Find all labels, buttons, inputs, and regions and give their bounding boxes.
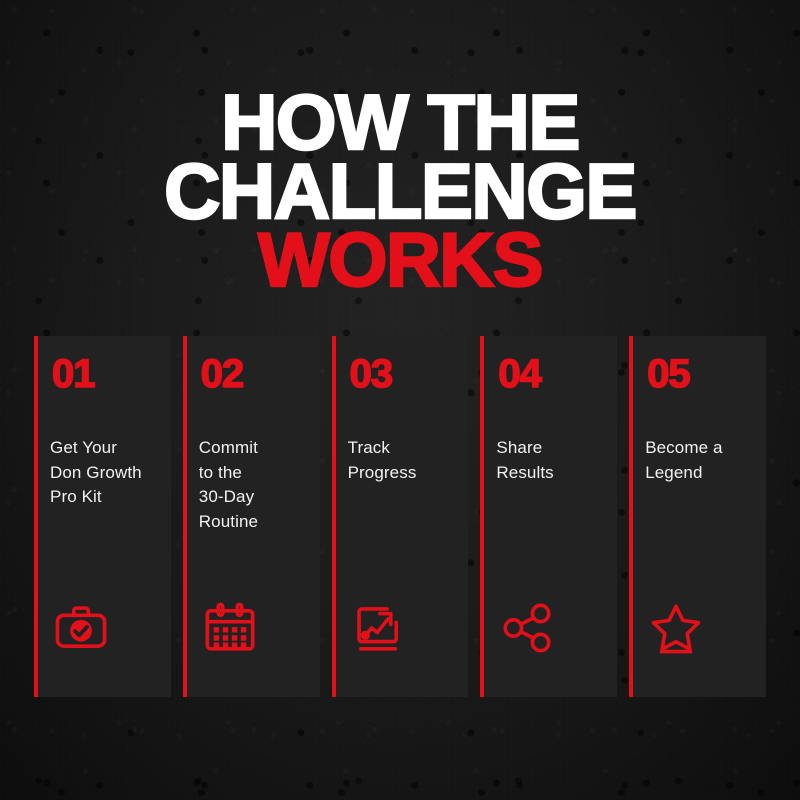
growth-chart-icon xyxy=(350,599,408,657)
step-number: 01 xyxy=(52,352,159,396)
title-line-3: WORKS xyxy=(0,226,800,295)
step-number: 04 xyxy=(498,352,605,396)
step-number: 02 xyxy=(201,352,308,396)
step-card-04[interactable]: 04 Share Results xyxy=(480,336,617,697)
step-number: 05 xyxy=(647,352,754,396)
step-label: Track Progress xyxy=(348,436,463,485)
calendar-icon xyxy=(201,599,259,657)
page-title: HOW THE CHALLENGE WORKS xyxy=(0,88,800,295)
step-label: Become a Legend xyxy=(645,436,760,485)
briefcase-check-icon xyxy=(52,599,110,657)
how-the-challenge-works-poster: HOW THE CHALLENGE WORKS 01 Get Your Don … xyxy=(0,0,800,800)
star-icon xyxy=(647,599,705,657)
title-line-2: CHALLENGE xyxy=(0,157,800,226)
share-icon xyxy=(498,599,556,657)
step-label: Share Results xyxy=(496,436,611,485)
step-card-03[interactable]: 03 Track Progress xyxy=(332,336,469,697)
step-label: Get Your Don Growth Pro Kit xyxy=(50,436,165,510)
step-number: 03 xyxy=(350,352,457,396)
steps-row: 01 Get Your Don Growth Pro Kit 02 Commit… xyxy=(34,336,766,697)
step-card-01[interactable]: 01 Get Your Don Growth Pro Kit xyxy=(34,336,171,697)
step-card-02[interactable]: 02 Commit to the 30-Day Routine xyxy=(183,336,320,697)
step-card-05[interactable]: 05 Become a Legend xyxy=(629,336,766,697)
step-label: Commit to the 30-Day Routine xyxy=(199,436,314,534)
